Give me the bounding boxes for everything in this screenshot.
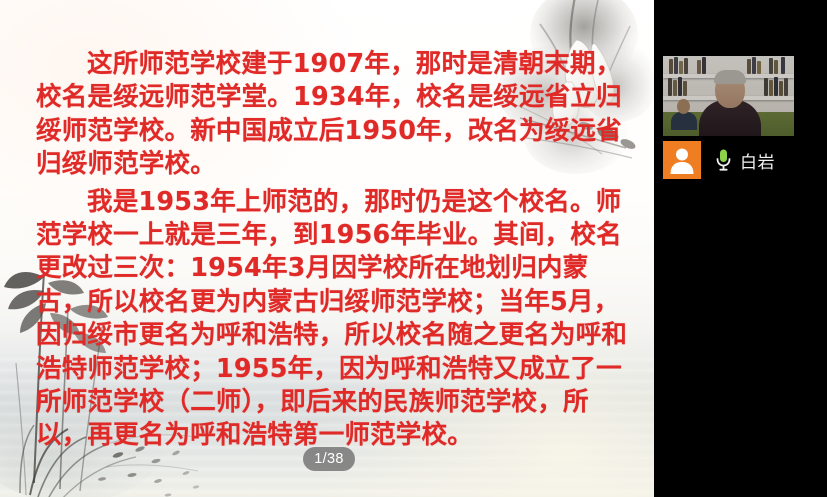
participant-row[interactable]: 白岩: [663, 141, 775, 179]
slide-paragraph-2: 我是1953年上师范的，那时仍是这个校名。师范学校一上就是三年，到1956年毕业…: [36, 186, 630, 453]
slide-body-text: 这所师范学校建于1907年，那时是清朝末期，校名是绥远师范学堂。1934年，校名…: [36, 48, 630, 453]
presentation-slide[interactable]: 这所师范学校建于1907年，那时是清朝末期，校名是绥远师范学堂。1934年，校名…: [0, 0, 654, 497]
participants-sidebar: 白岩: [654, 0, 827, 497]
microphone-active-icon: [715, 148, 732, 172]
participant-video-tile[interactable]: [663, 56, 794, 136]
page-indicator: 1/38: [303, 447, 355, 471]
participant-name: 白岩: [740, 148, 775, 173]
person-avatar-icon: [663, 141, 701, 179]
video-conference-screen: 这所师范学校建于1907年，那时是清朝末期，校名是绥远师范学堂。1934年，校名…: [0, 0, 827, 497]
slide-paragraph-1: 这所师范学校建于1907年，那时是清朝末期，校名是绥远师范学堂。1934年，校名…: [36, 48, 630, 182]
video-dim-overlay: [663, 56, 794, 136]
